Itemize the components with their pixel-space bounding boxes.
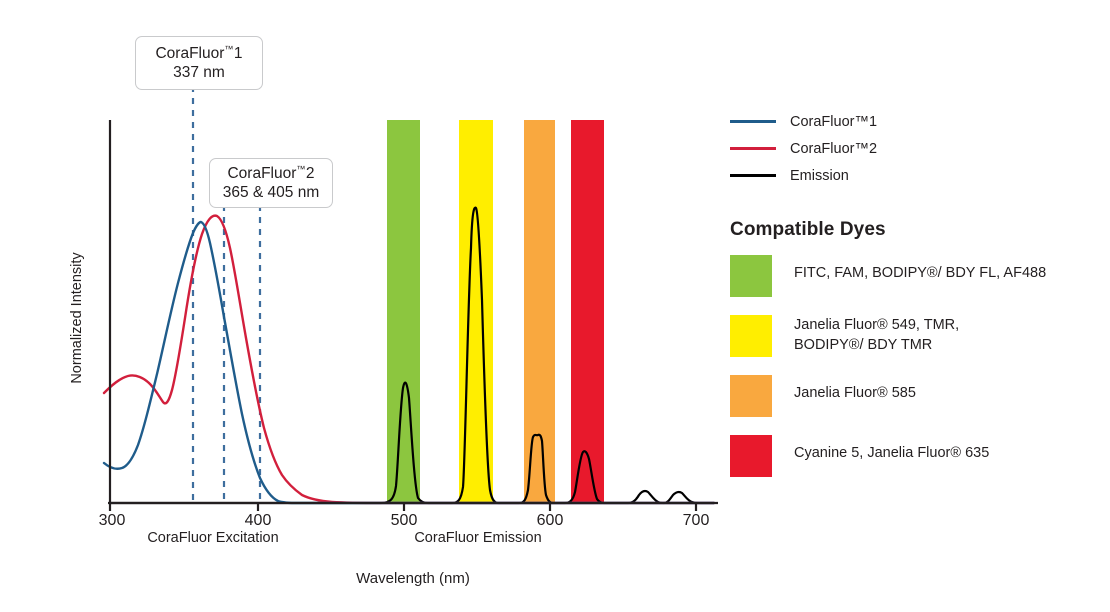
- sub-axis-excitation: CoraFluor Excitation: [147, 530, 278, 546]
- callout-corafluor1-line2: 337 nm: [173, 63, 225, 82]
- dye-label-tmr: Janelia Fluor® 549, TMR, BODIPY®/ BDY TM…: [794, 315, 959, 355]
- dye-row-jf585: Janelia Fluor® 585: [730, 375, 1100, 417]
- callout-corafluor2: CoraFluor™2 365 & 405 nm: [209, 158, 333, 208]
- legend-item-corafluor1: CoraFluor™1: [730, 108, 1100, 135]
- legend-line-corafluor1: [730, 120, 776, 123]
- legend-panel: CoraFluor™1 CoraFluor™2 Emission Compati…: [730, 108, 1100, 495]
- dye-swatch-cy5: [730, 435, 772, 477]
- callout-corafluor2-line1: CoraFluor™2: [227, 164, 314, 184]
- dye-row-cy5: Cyanine 5, Janelia Fluor® 635: [730, 435, 1100, 477]
- x-axis-title: Wavelength (nm): [356, 570, 470, 587]
- dye-swatch-fitc: [730, 255, 772, 297]
- legend-label-corafluor2: CoraFluor™2: [790, 141, 877, 157]
- legend-line-emission: [730, 174, 776, 177]
- x-tick-label-600: 600: [537, 512, 564, 529]
- dye-row-tmr: Janelia Fluor® 549, TMR, BODIPY®/ BDY TM…: [730, 315, 1100, 357]
- excitation-markers: [193, 86, 260, 503]
- dye-swatch-jf585: [730, 375, 772, 417]
- trademark-icon: ™: [296, 164, 306, 174]
- dye-label-fitc: FITC, FAM, BODIPY®/ BDY FL, AF488: [794, 255, 1046, 284]
- dye-row-fitc: FITC, FAM, BODIPY®/ BDY FL, AF488: [730, 255, 1100, 297]
- dye-label-jf585: Janelia Fluor® 585: [794, 375, 916, 404]
- band-jf585: [524, 120, 555, 503]
- dye-swatch-tmr: [730, 315, 772, 357]
- band-cy5: [571, 120, 604, 503]
- x-tick-label-300: 300: [99, 512, 126, 529]
- band-fitc: [387, 120, 420, 503]
- trademark-icon: ™: [224, 44, 234, 54]
- callout-corafluor1: CoraFluor™1 337 nm: [135, 36, 263, 90]
- dye-label-cy5: Cyanine 5, Janelia Fluor® 635: [794, 435, 989, 464]
- compatible-dye-bands: [387, 120, 604, 503]
- legend-item-emission: Emission: [730, 162, 1100, 189]
- x-tick-label-500: 500: [391, 512, 418, 529]
- legend-label-corafluor1: CoraFluor™1: [790, 114, 877, 130]
- callout-corafluor2-line2: 365 & 405 nm: [223, 183, 320, 202]
- figure-canvas: 300 400 500 600 700 CoraFluor Excitation…: [0, 0, 1110, 612]
- x-tick-label-700: 700: [683, 512, 710, 529]
- legend-item-corafluor2: CoraFluor™2: [730, 135, 1100, 162]
- compatible-dyes-title: Compatible Dyes: [730, 219, 1100, 241]
- y-axis-title: Normalized Intensity: [69, 252, 85, 384]
- sub-axis-emission: CoraFluor Emission: [414, 530, 541, 546]
- legend-label-emission: Emission: [790, 168, 849, 184]
- callout-corafluor1-line1: CoraFluor™1: [155, 44, 242, 64]
- legend-line-corafluor2: [730, 147, 776, 150]
- x-tick-label-400: 400: [245, 512, 272, 529]
